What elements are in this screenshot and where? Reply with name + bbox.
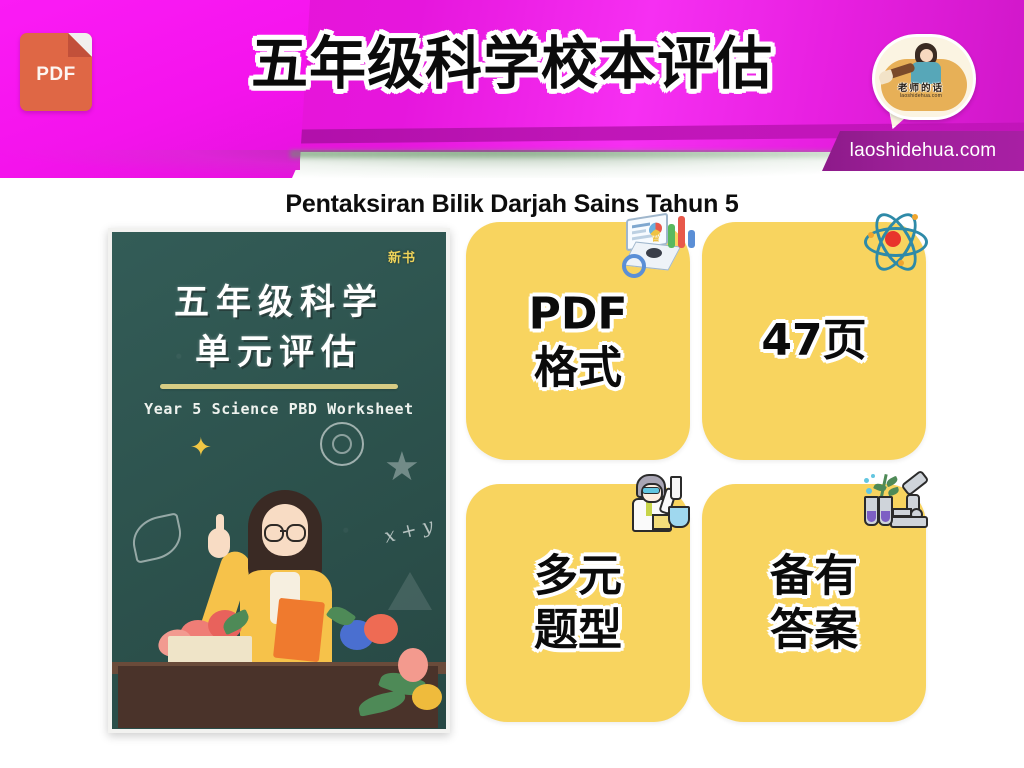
teacher-book (273, 598, 325, 662)
website-url-label: laoshidehua.com (822, 140, 1024, 162)
slide-root: PDF 五年级科学校本评估 老师的话 laoshidehua.com laosh… (0, 0, 1024, 768)
card-page-count-line1: 47页 (702, 314, 926, 368)
scientist-glyph (630, 474, 688, 530)
scientist-icon (620, 466, 698, 536)
card-answers-line2: 答案 (702, 603, 926, 657)
teacher-glasses-bridge (280, 530, 286, 532)
teacher-glasses-right (286, 524, 306, 542)
card-question-types-line1: 多元 (466, 549, 690, 603)
flower-tulip-pink (398, 648, 428, 682)
logo-teacher-face (920, 49, 933, 62)
card-question-types-line2: 题型 (466, 603, 690, 657)
bar-green (668, 224, 675, 248)
flower-orange (364, 614, 398, 644)
card-question-types[interactable]: 多元 题型 (466, 484, 690, 722)
logo-cn-text: 老师的话 (872, 80, 970, 94)
cover-title-line2: 单元评估 (112, 324, 446, 375)
star-doodle-icon: ★ (384, 444, 420, 490)
feature-cards: ♛ PDF 格式 47页 (466, 222, 948, 726)
card-answers[interactable]: 备有 答案 (702, 484, 926, 722)
flower-tulip-yellow (412, 684, 442, 710)
card-pdf-format-line1: PDF (466, 287, 690, 341)
bar-red (678, 216, 685, 248)
logo-bubble (872, 34, 976, 120)
crown-icon: ♛ (650, 230, 662, 246)
card-page-count-text: 47页 (702, 314, 926, 368)
card-pdf-format-line2: 格式 (466, 341, 690, 395)
book-cover-image: 新书 五年级科学 单元评估 Year 5 Science PBD Workshe… (108, 228, 450, 733)
website-ribbon[interactable]: laoshidehua.com (822, 131, 1024, 171)
pyramid-doodle-icon (388, 572, 432, 610)
chart-dot (646, 248, 662, 258)
bar-blue (688, 230, 695, 248)
card-pdf-format[interactable]: ♛ PDF 格式 (466, 222, 690, 460)
teacher-finger (216, 514, 224, 534)
atom-icon (856, 204, 934, 274)
atom-glyph (864, 210, 922, 268)
microscope-icon (856, 466, 934, 536)
teacher-glasses-left (264, 524, 284, 542)
gear-icon (622, 254, 646, 278)
sun-doodle-icon (320, 422, 364, 466)
page-title: 五年级科学校本评估 (0, 36, 1024, 93)
laoshidehua-logo: 老师的话 laoshidehua.com (872, 34, 970, 126)
logo-url-text: laoshidehua.com (872, 93, 970, 99)
card-answers-text: 备有 答案 (702, 549, 926, 656)
card-answers-line1: 备有 (702, 549, 926, 603)
cover-english-subtitle: Year 5 Science PBD Worksheet (112, 400, 446, 418)
cover-title-line1: 五年级科学 (112, 274, 446, 325)
header-banner: PDF 五年级科学校本评估 老师的话 laoshidehua.com laosh… (0, 0, 1024, 178)
card-question-types-text: 多元 题型 (466, 549, 690, 656)
sparkle-icon: ✦ (190, 432, 212, 463)
cover-corner-badge: 新书 (374, 240, 430, 278)
computer-analytics-icon: ♛ (620, 204, 698, 274)
cover-divider (160, 384, 398, 389)
card-page-count[interactable]: 47页 (702, 222, 926, 460)
microscope-glyph (862, 472, 926, 530)
card-pdf-format-text: PDF 格式 (466, 287, 690, 394)
